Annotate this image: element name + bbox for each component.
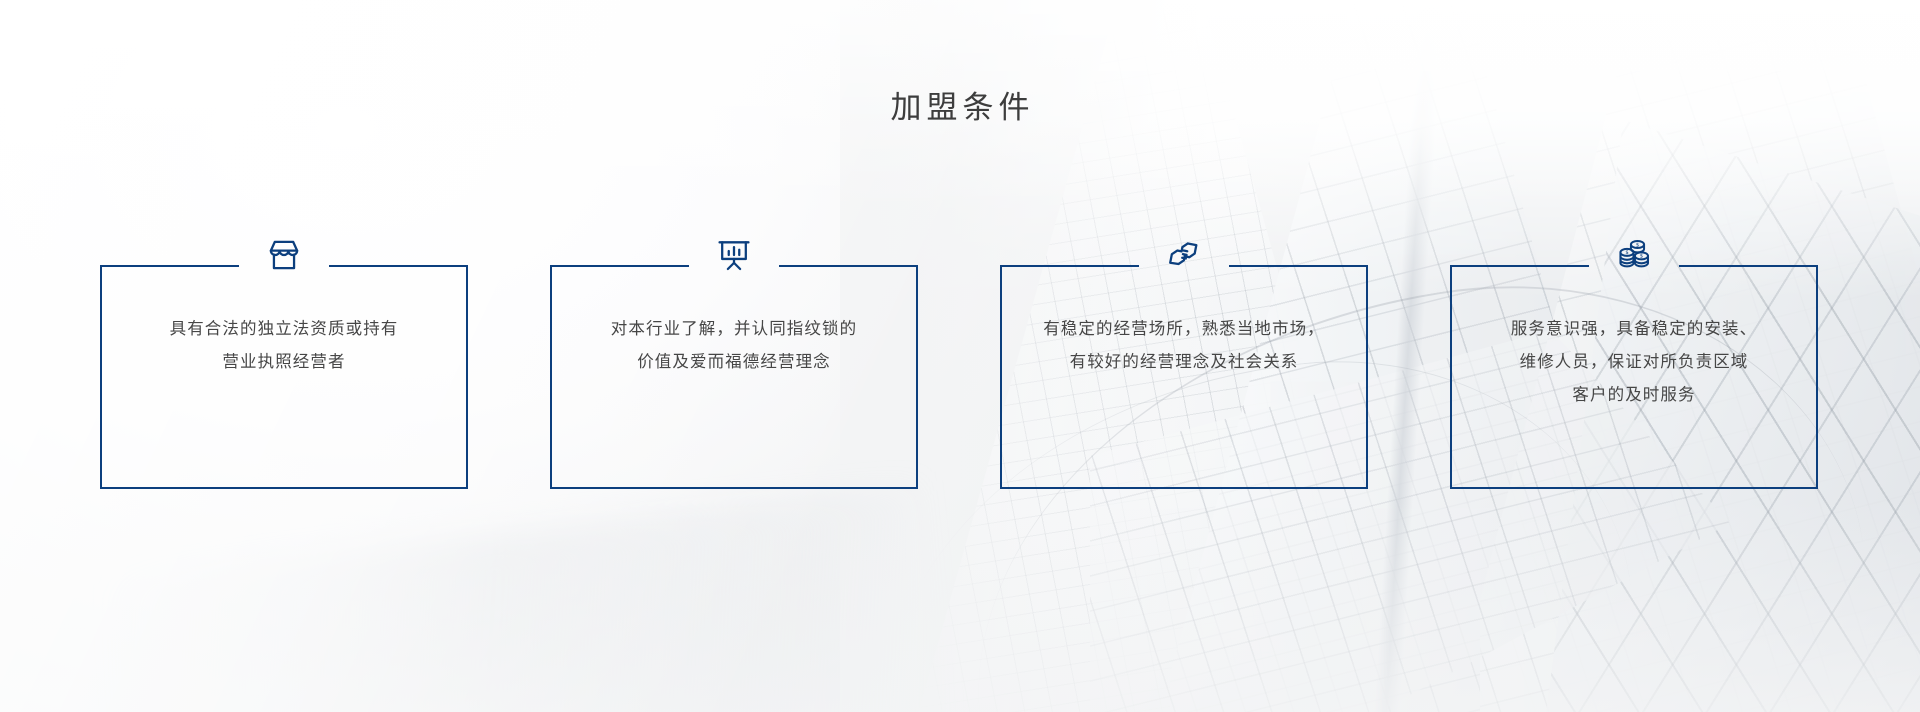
card-top-rule-right: [1679, 265, 1818, 267]
svg-text:$: $: [1640, 254, 1643, 260]
condition-card-3[interactable]: 有稳定的经营场所，熟悉当地市场， 有较好的经营理念及社会关系: [1000, 267, 1368, 489]
condition-card-2[interactable]: 对本行业了解，并认同指纹锁的 价值及爱而福德经营理念: [550, 267, 918, 489]
page-title: 加盟条件: [0, 82, 1920, 127]
condition-card-text: 具有合法的独立法资质或持有 营业执照经营者: [118, 313, 450, 379]
svg-text:$: $: [1636, 242, 1639, 248]
card-top-rule-left: [1000, 265, 1139, 267]
storefront-icon: [261, 232, 307, 278]
coin-stacks-icon: $ $ $: [1611, 232, 1657, 278]
handshake-icon: [1161, 232, 1207, 278]
condition-card-text: 对本行业了解，并认同指纹锁的 价值及爱而福德经营理念: [568, 313, 900, 379]
card-top-rule-right: [329, 265, 468, 267]
condition-card-4[interactable]: $ $ $ 服务意识强，具备稳定的安装、 维修人员，保证对所负责区域 客户的及时…: [1450, 267, 1818, 489]
card-top-rule-left: [550, 265, 689, 267]
card-top-rule-right: [779, 265, 918, 267]
card-top-rule-left: [1450, 265, 1589, 267]
condition-card-1[interactable]: 具有合法的独立法资质或持有 营业执照经营者: [100, 267, 468, 489]
conditions-card-list: 具有合法的独立法资质或持有 营业执照经营者 对本行业了解，并认同指纹锁的 价值及…: [100, 267, 1818, 489]
card-top-rule-left: [100, 265, 239, 267]
card-top-rule-right: [1229, 265, 1368, 267]
svg-text:$: $: [1625, 250, 1628, 256]
presentation-chart-icon: [711, 232, 757, 278]
condition-card-text: 服务意识强，具备稳定的安装、 维修人员，保证对所负责区域 客户的及时服务: [1468, 313, 1800, 412]
condition-card-text: 有稳定的经营场所，熟悉当地市场， 有较好的经营理念及社会关系: [1018, 313, 1350, 379]
